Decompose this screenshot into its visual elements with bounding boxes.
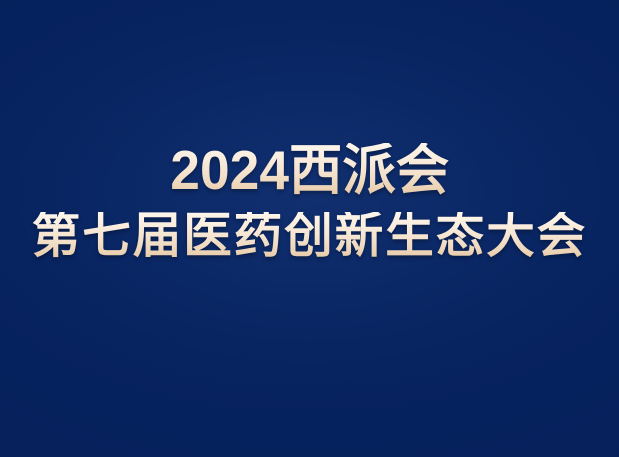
title-block: 2024西派会 第七届医药创新生态大会 — [0, 143, 619, 261]
poster-title-primary: 2024西派会 — [170, 143, 449, 198]
conference-title-poster: 2024西派会 第七届医药创新生态大会 — [0, 0, 619, 457]
poster-title-secondary: 第七届医药创新生态大会 — [32, 212, 587, 261]
